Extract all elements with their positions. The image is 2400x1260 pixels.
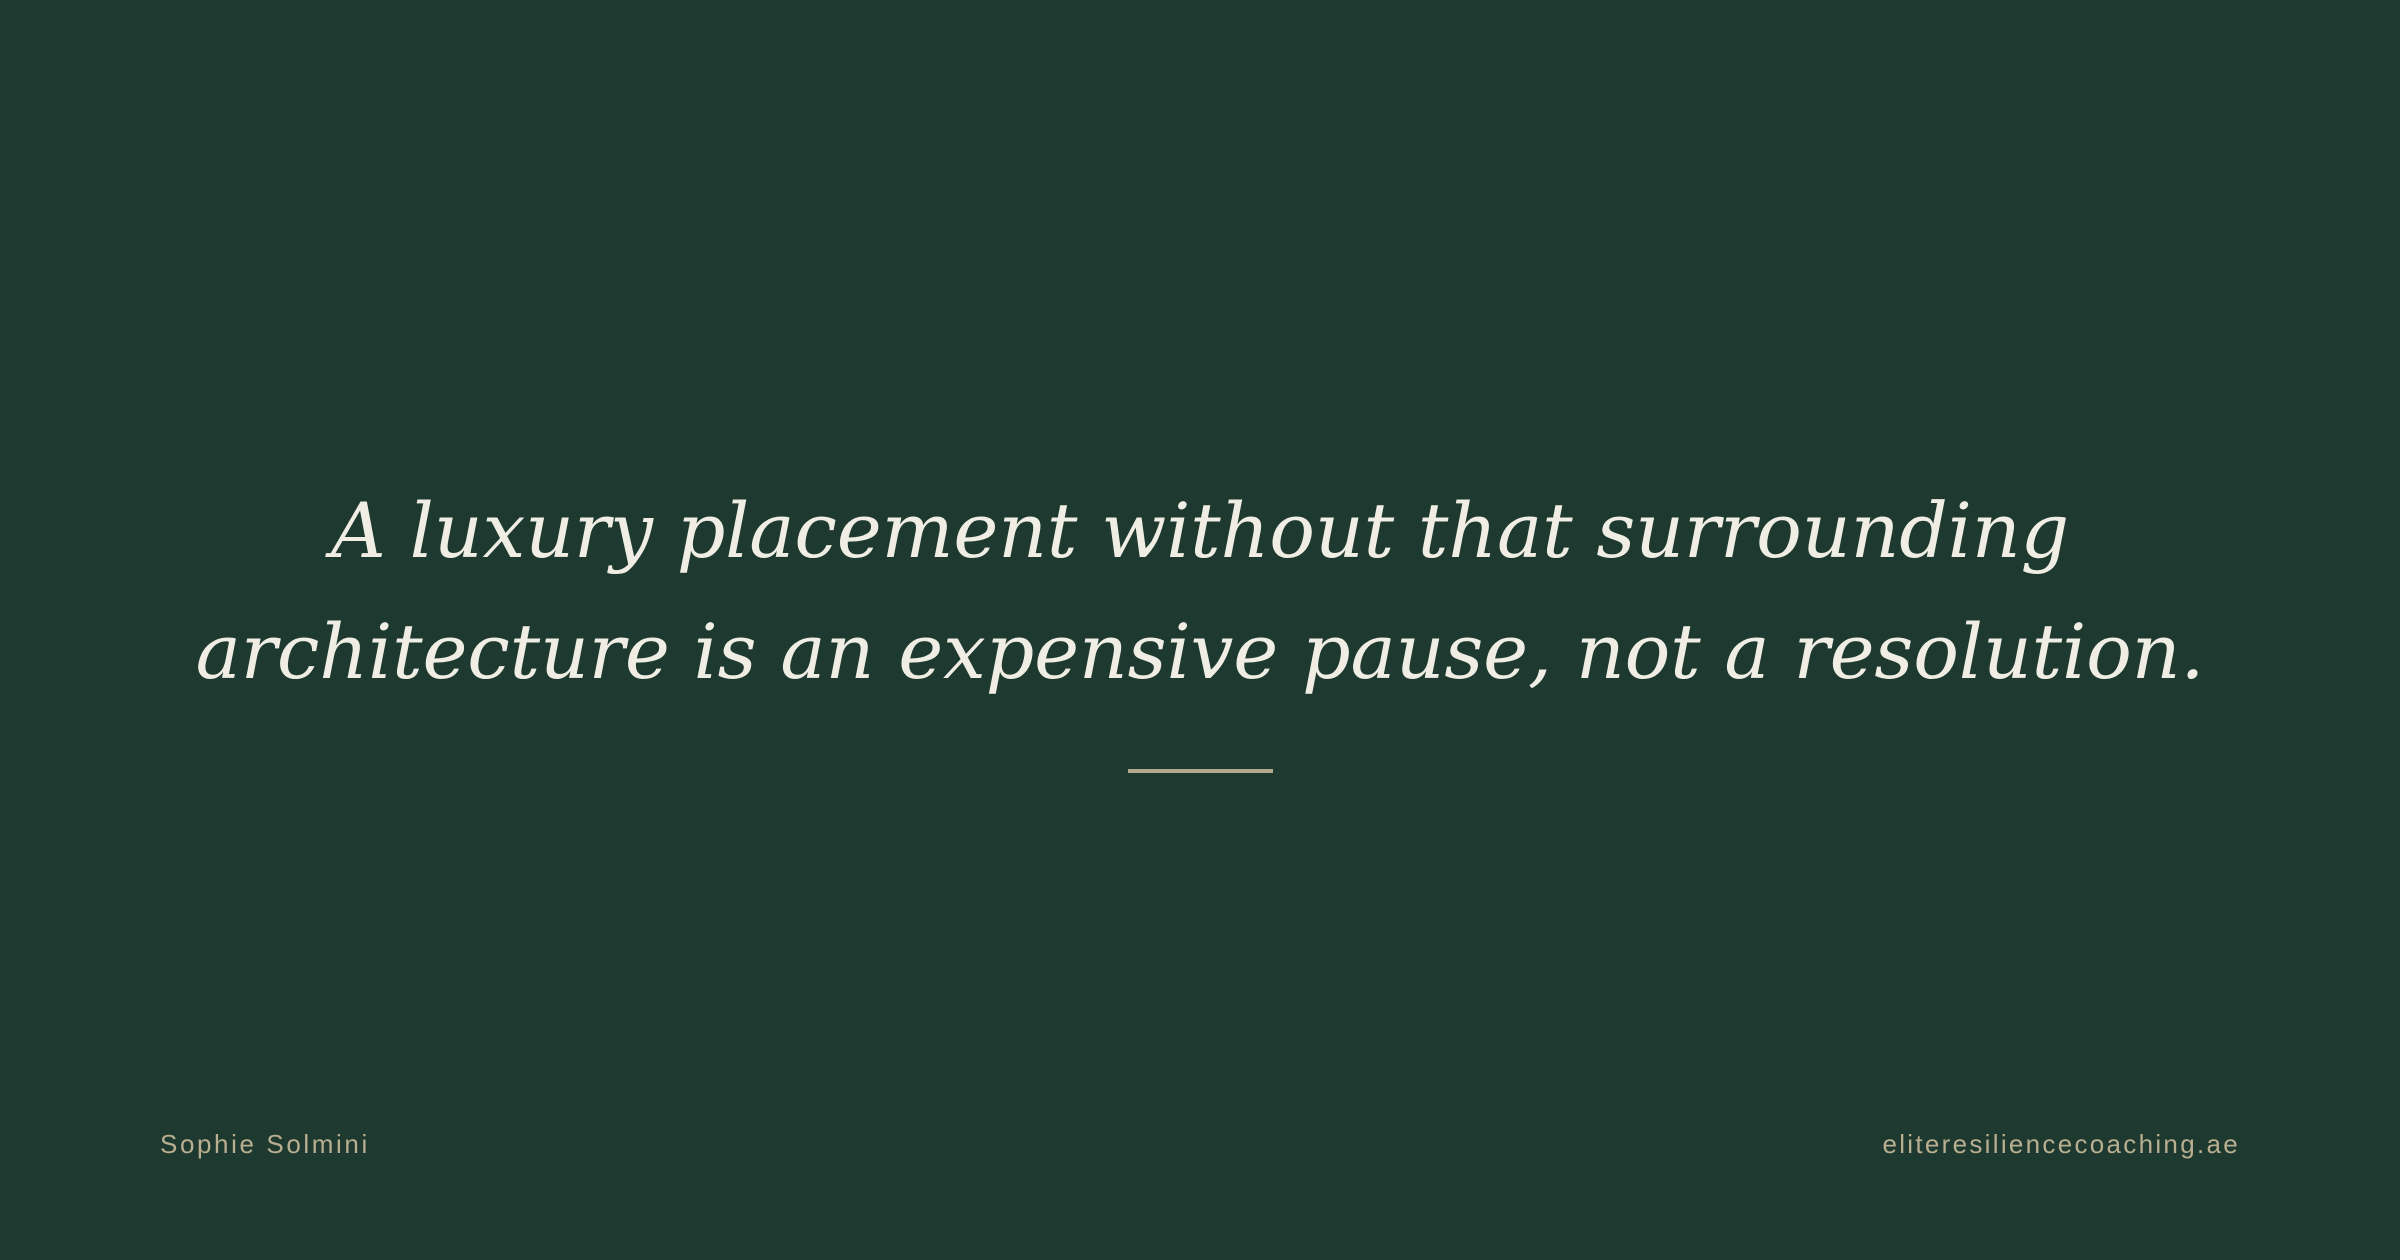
- quote-text: A luxury placement without that surround…: [195, 470, 2205, 712]
- quote-block: A luxury placement without that surround…: [0, 470, 2400, 773]
- divider-rule: [1128, 769, 1273, 773]
- author-name: Sophie Solmini: [160, 1129, 370, 1160]
- footer: Sophie Solmini eliteresiliencecoaching.a…: [160, 1129, 2240, 1160]
- website-url: eliteresiliencecoaching.ae: [1882, 1129, 2240, 1160]
- quote-slide: A luxury placement without that surround…: [0, 0, 2400, 1260]
